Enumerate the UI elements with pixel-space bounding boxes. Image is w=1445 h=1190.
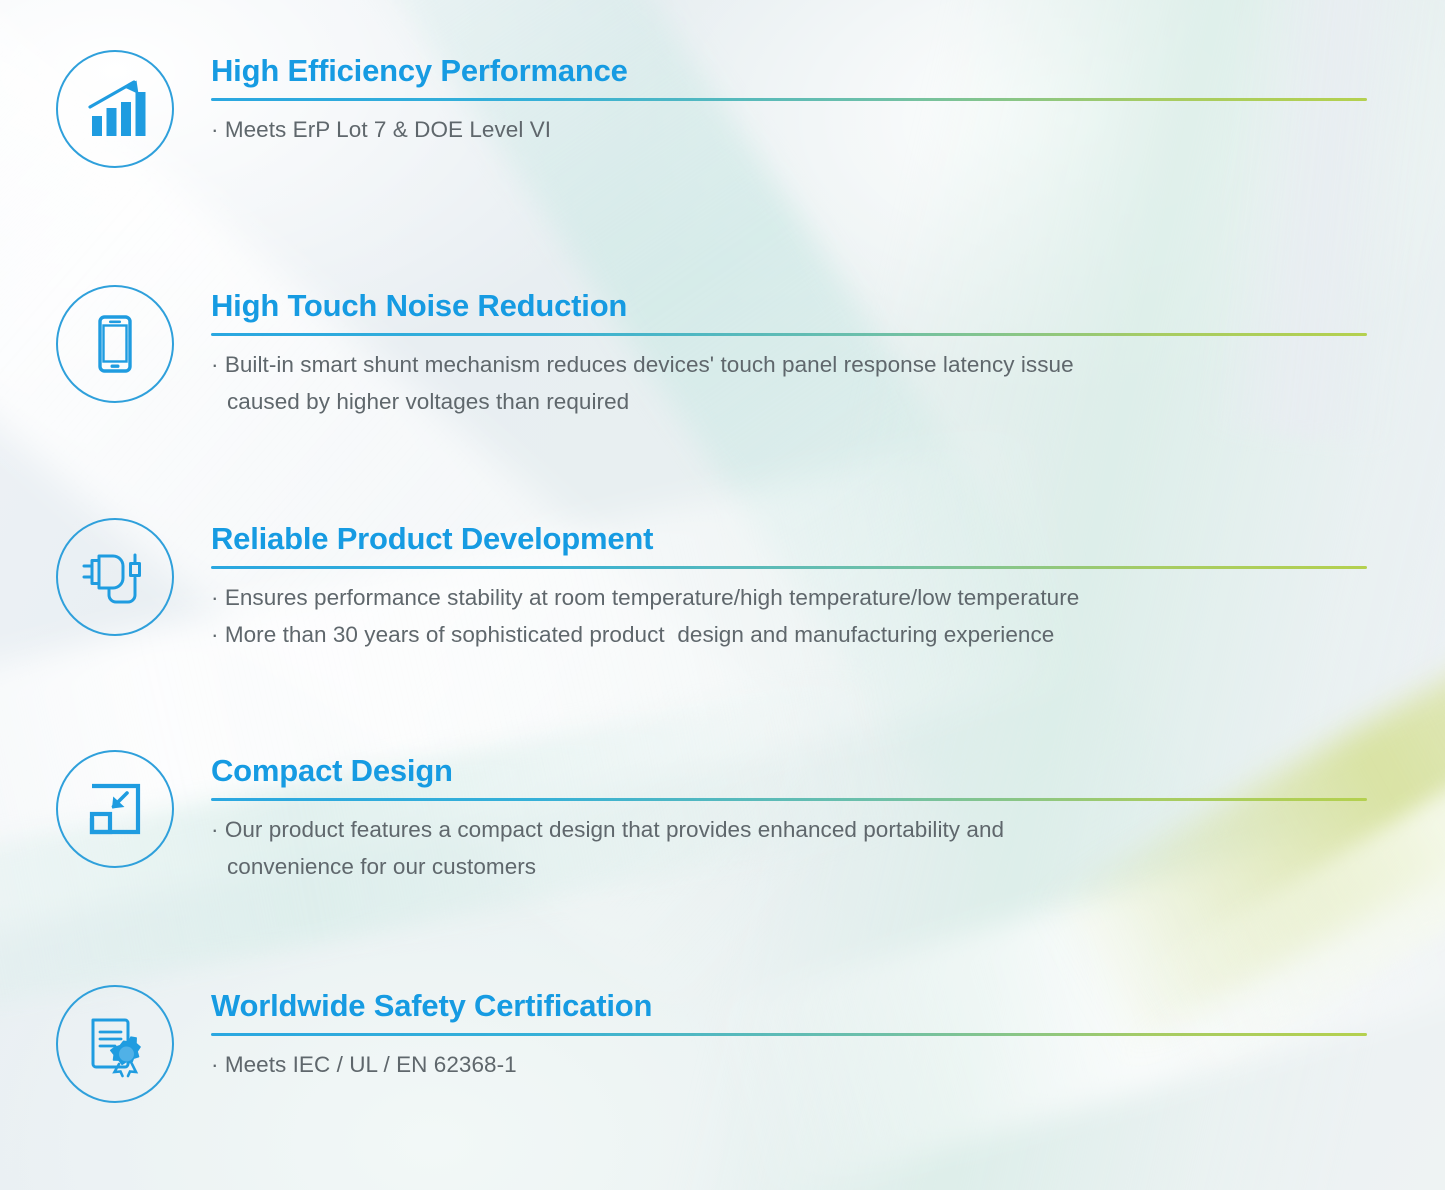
feature-title: High Efficiency Performance <box>211 54 1367 87</box>
feature-text-column: Reliable Product Development · Ensures p… <box>211 518 1367 653</box>
bullet-marker: · <box>211 1052 219 1077</box>
bullet-text: Meets IEC / UL / EN 62368-1 <box>225 1052 517 1077</box>
bullet-marker: · <box>211 117 219 142</box>
feature-divider <box>211 98 1367 101</box>
bar-chart-growth-icon <box>56 50 174 168</box>
feature-item-high-touch-noise-reduction: High Touch Noise Reduction · Built-in sm… <box>0 285 1445 420</box>
feature-bullet-line: · Ensures performance stability at room … <box>211 580 1367 617</box>
feature-text-column: High Touch Noise Reduction · Built-in sm… <box>211 285 1367 420</box>
feature-body: · Ensures performance stability at room … <box>211 580 1367 653</box>
feature-bullet-line: · Meets IEC / UL / EN 62368-1 <box>211 1047 1367 1084</box>
bullet-marker: · <box>211 585 219 610</box>
feature-title: Reliable Product Development <box>211 522 1367 555</box>
compact-resize-icon <box>56 750 174 868</box>
feature-divider <box>211 1033 1367 1036</box>
feature-item-reliable-product-development: Reliable Product Development · Ensures p… <box>0 518 1445 653</box>
feature-bullet-line-continued: convenience for our customers <box>211 849 1367 886</box>
feature-item-high-efficiency-performance: High Efficiency Performance · Meets ErP … <box>0 50 1445 168</box>
feature-text-column: Compact Design · Our product features a … <box>211 750 1367 885</box>
feature-icon-wrap <box>54 285 176 403</box>
feature-text-column: Worldwide Safety Certification · Meets I… <box>211 985 1367 1084</box>
feature-icon-wrap <box>54 985 176 1103</box>
feature-bullet-line: · Our product features a compact design … <box>211 812 1367 849</box>
power-adapter-icon <box>56 518 174 636</box>
certificate-seal-icon <box>56 985 174 1103</box>
feature-bullet-line: · Meets ErP Lot 7 & DOE Level VI <box>211 112 1367 149</box>
bullet-text: Built-in smart shunt mechanism reduces d… <box>225 352 1074 377</box>
feature-divider <box>211 798 1367 801</box>
feature-title: Worldwide Safety Certification <box>211 989 1367 1022</box>
smartphone-icon <box>56 285 174 403</box>
bullet-text: Ensures performance stability at room te… <box>225 585 1080 610</box>
feature-text-column: High Efficiency Performance · Meets ErP … <box>211 50 1367 149</box>
feature-body: · Our product features a compact design … <box>211 812 1367 885</box>
bullet-marker: · <box>211 352 219 377</box>
feature-bullet-line: · Built-in smart shunt mechanism reduces… <box>211 347 1367 384</box>
feature-body: · Meets IEC / UL / EN 62368-1 <box>211 1047 1367 1084</box>
feature-title: Compact Design <box>211 754 1367 787</box>
feature-divider <box>211 333 1367 336</box>
bullet-marker: · <box>211 622 219 647</box>
feature-divider <box>211 566 1367 569</box>
feature-bullet-line: · More than 30 years of sophisticated pr… <box>211 617 1367 654</box>
feature-bullet-line-continued: caused by higher voltages than required <box>211 384 1367 421</box>
bullet-text: Our product features a compact design th… <box>225 817 1004 842</box>
feature-item-worldwide-safety-certification: Worldwide Safety Certification · Meets I… <box>0 985 1445 1103</box>
feature-icon-wrap <box>54 518 176 636</box>
bullet-marker: · <box>211 817 219 842</box>
feature-icon-wrap <box>54 750 176 868</box>
feature-body: · Built-in smart shunt mechanism reduces… <box>211 347 1367 420</box>
feature-icon-wrap <box>54 50 176 168</box>
feature-item-compact-design: Compact Design · Our product features a … <box>0 750 1445 885</box>
feature-title: High Touch Noise Reduction <box>211 289 1367 322</box>
bullet-text: More than 30 years of sophisticated prod… <box>225 622 1055 647</box>
feature-body: · Meets ErP Lot 7 & DOE Level VI <box>211 112 1367 149</box>
bullet-text: Meets ErP Lot 7 & DOE Level VI <box>225 117 551 142</box>
